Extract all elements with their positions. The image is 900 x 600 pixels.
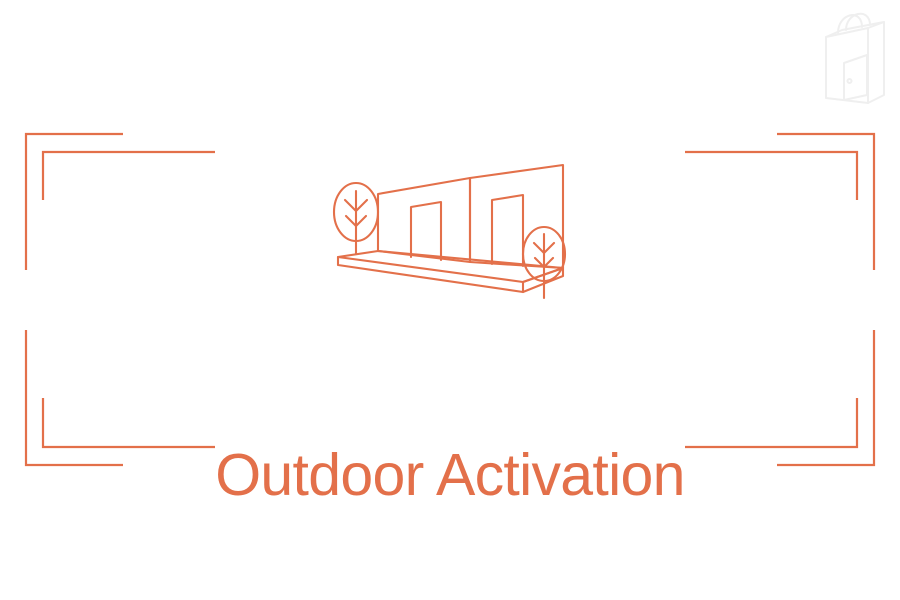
bracket-top-right-outer <box>777 134 874 270</box>
tree-left <box>334 183 378 254</box>
wall-panel-right <box>470 165 563 268</box>
shopping-bag-watermark <box>818 10 896 108</box>
slide-title: Outdoor Activation & Pop-up <box>0 300 900 600</box>
bag-door-outline <box>844 55 867 100</box>
bag-front-face <box>826 28 868 103</box>
bag-door-knob <box>848 79 852 83</box>
wall-panel-left <box>378 178 470 262</box>
doorway-left <box>411 202 441 260</box>
bracket-top-left-inner <box>43 152 215 200</box>
bracket-top-right-inner <box>685 152 857 200</box>
storefront-facade-illustration <box>320 150 582 302</box>
bracket-top-left-outer <box>26 134 123 270</box>
slide-canvas: Outdoor Activation & Pop-up <box>0 0 900 600</box>
doorway-right <box>492 195 523 266</box>
tree-right <box>523 227 565 298</box>
slide-title-line-1: Outdoor Activation <box>0 440 900 510</box>
bag-side-face <box>868 22 884 103</box>
